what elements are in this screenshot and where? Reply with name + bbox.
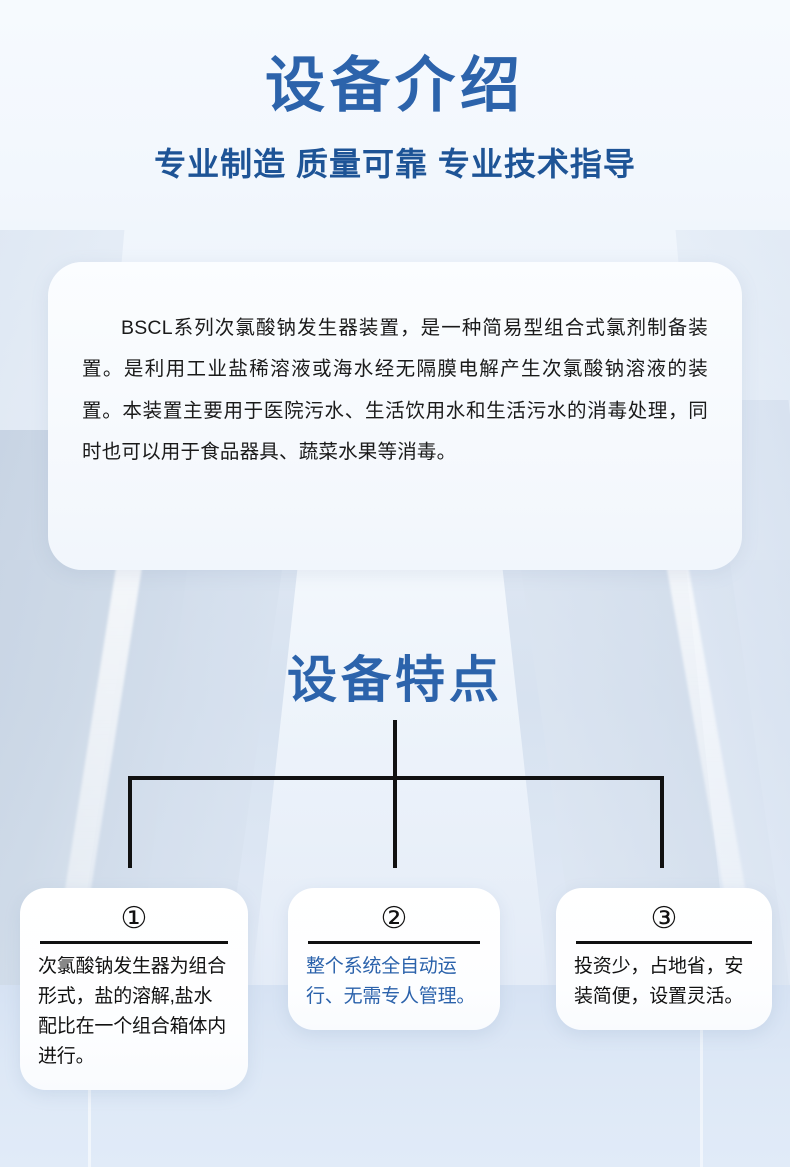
page-subtitle: 专业制造 质量可靠 专业技术指导 [0,117,790,185]
feature-card-number: ③ [574,902,754,935]
connector-drop-right [660,776,664,868]
feature-card-number: ② [306,902,482,935]
feature-card-text: 整个系统全自动运行、无需专人管理。 [306,952,482,1012]
feature-card: ② 整个系统全自动运行、无需专人管理。 [288,888,500,1030]
feature-card-divider [576,941,752,944]
page-root: 设备介绍 专业制造 质量可靠 专业技术指导 BSCL系列次氯酸钠发生器装置，是一… [0,0,790,1167]
connector-stem [393,720,397,776]
feature-card-text: 投资少，占地省，安装简便，设置灵活。 [574,952,754,1012]
page-header: 设备介绍 专业制造 质量可靠 专业技术指导 [0,0,790,185]
page-title: 设备介绍 [0,0,790,117]
feature-card-divider [40,941,228,944]
feature-card: ③ 投资少，占地省，安装简便，设置灵活。 [556,888,772,1030]
feature-card-divider [308,941,480,944]
feature-card-text: 次氯酸钠发生器为组合形式，盐的溶解,盐水配比在一个组合箱体内进行。 [38,952,230,1072]
feature-card-number: ① [38,902,230,935]
intro-paragraph: BSCL系列次氯酸钠发生器装置，是一种简易型组合式氯剂制备装置。是利用工业盐稀溶… [82,308,708,473]
connector-diagram [0,720,790,895]
connector-drop-left [128,776,132,868]
feature-card: ① 次氯酸钠发生器为组合形式，盐的溶解,盐水配比在一个组合箱体内进行。 [20,888,248,1090]
intro-card: BSCL系列次氯酸钠发生器装置，是一种简易型组合式氯剂制备装置。是利用工业盐稀溶… [48,262,742,570]
connector-drop-center [393,776,397,868]
features-section-title: 设备特点 [0,640,790,712]
